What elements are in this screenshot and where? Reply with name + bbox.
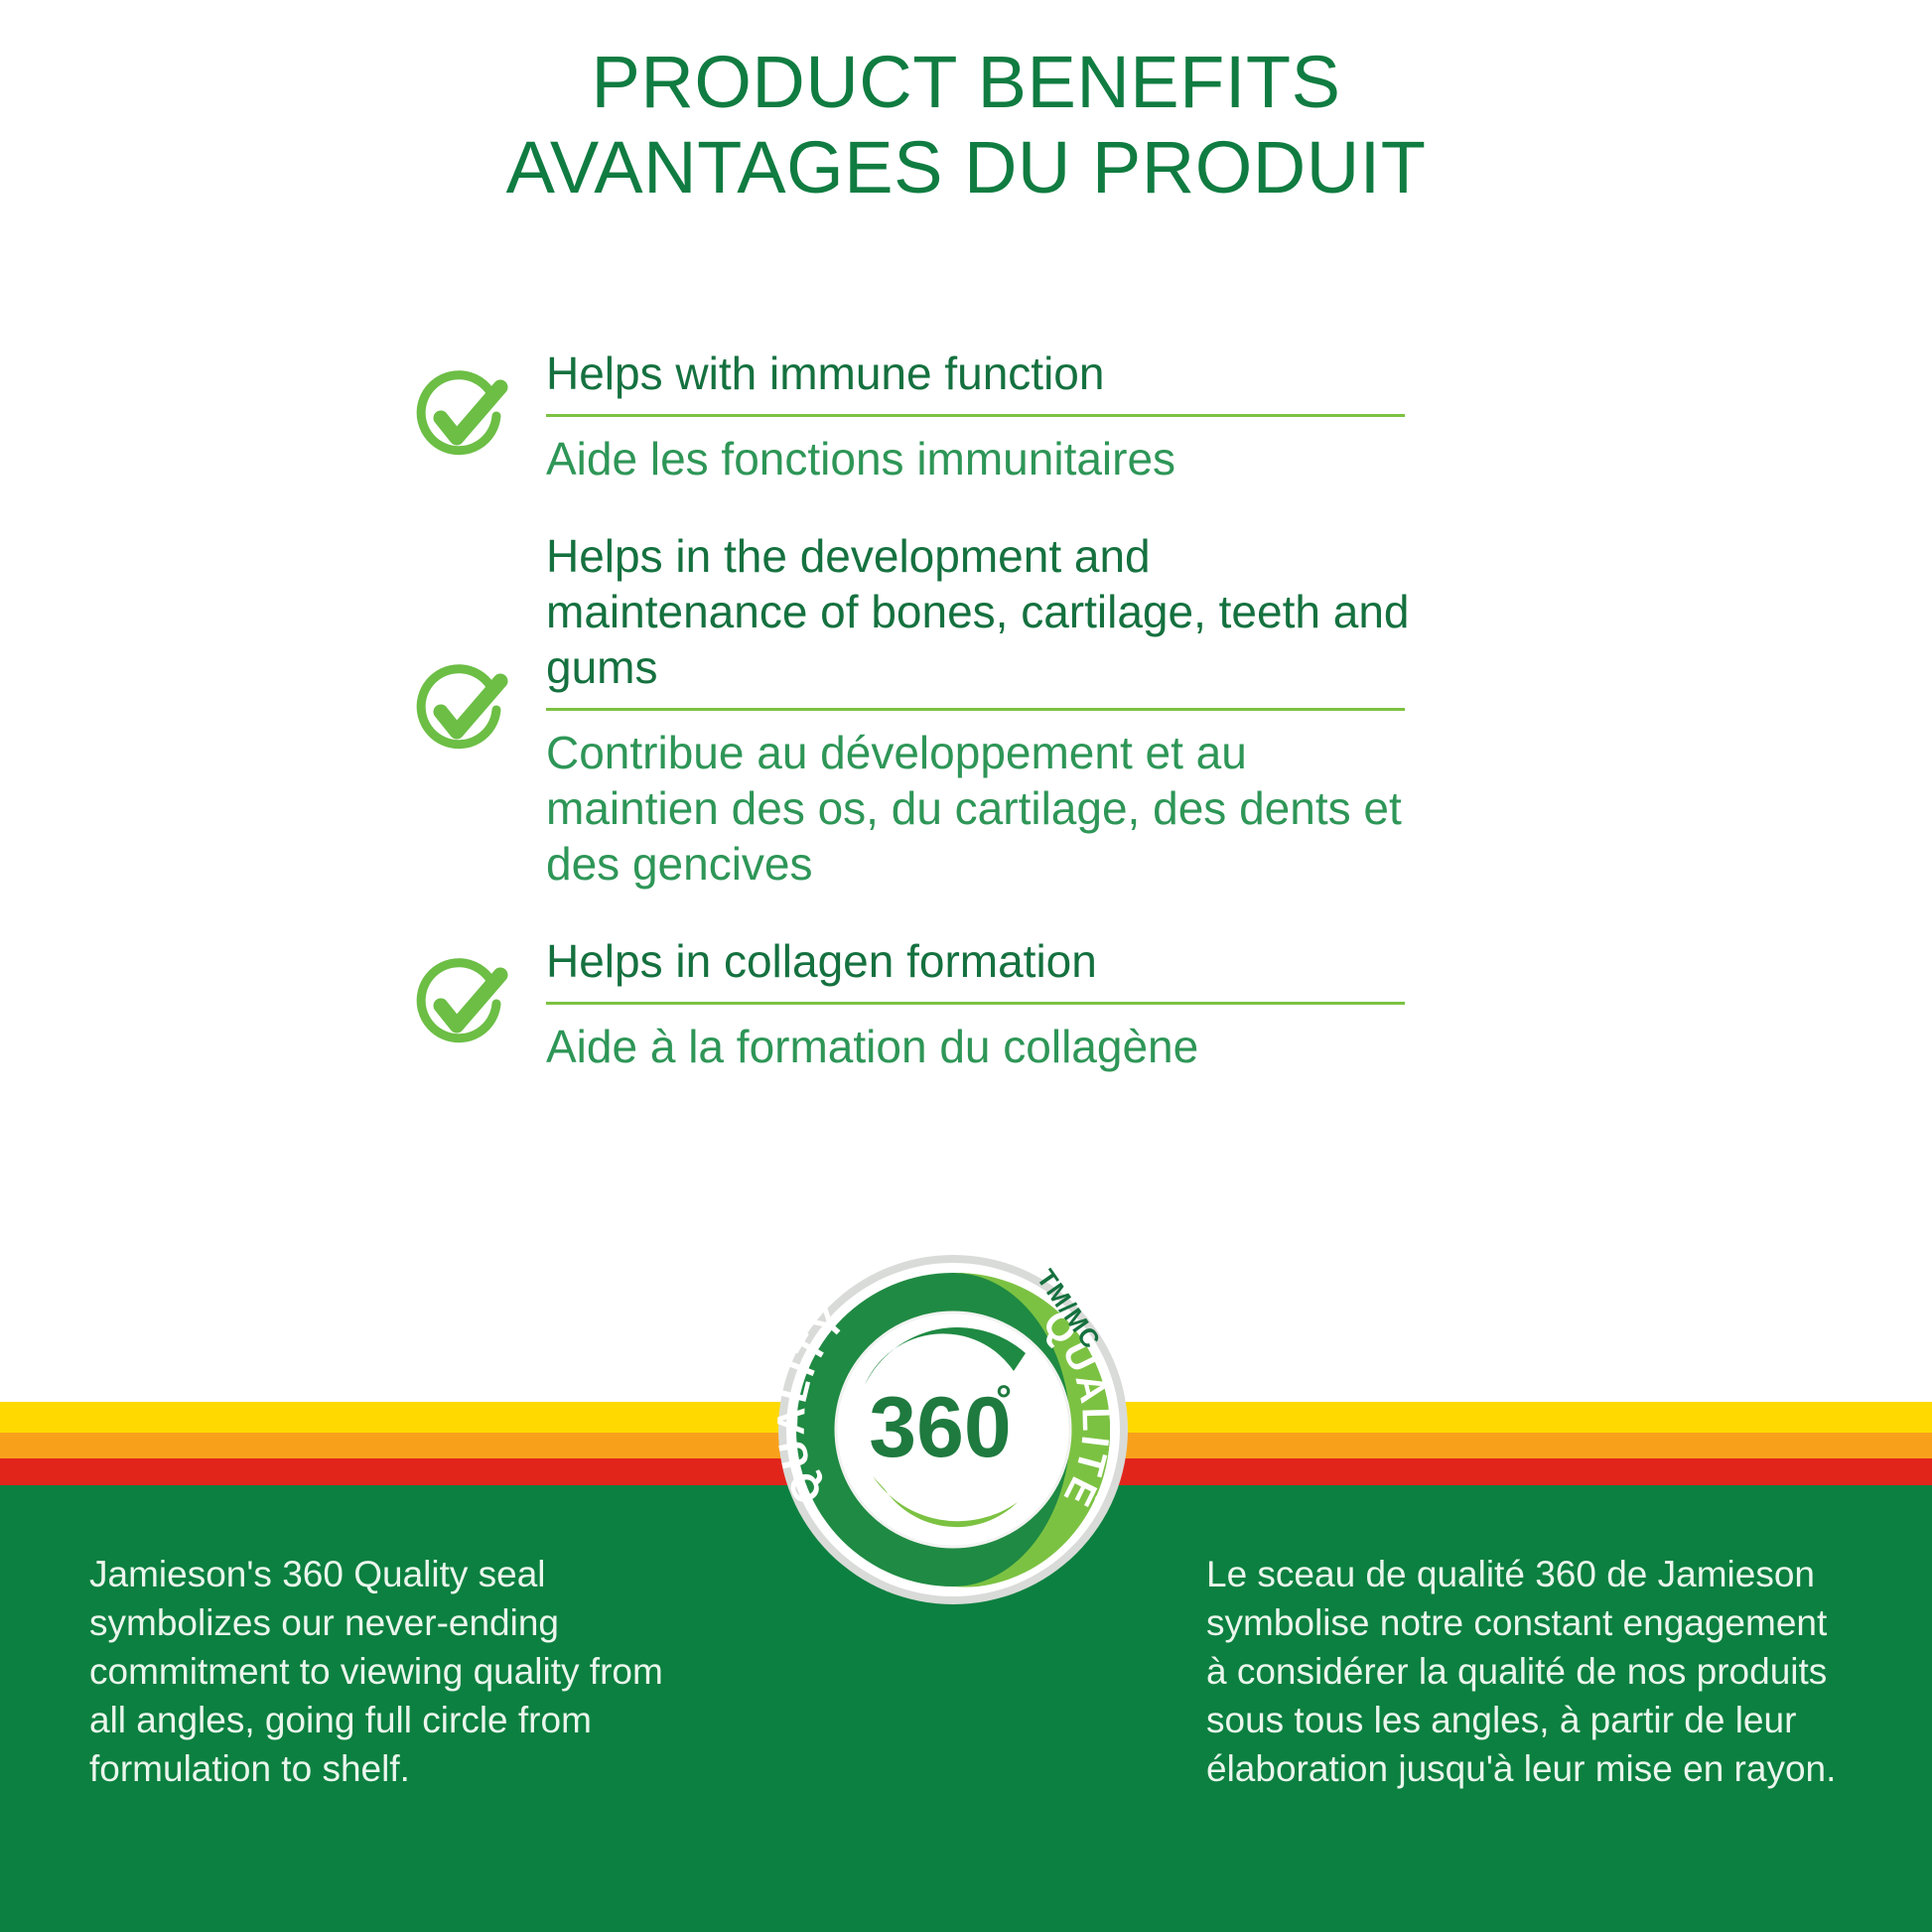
benefit-item: Helps in collagen formation Aide à la fo… — [0, 933, 1932, 1074]
360-quality-seal: QUALITY QUALITÉ 360 ° TM/MC — [769, 1246, 1137, 1613]
benefit-text-english: Helps in the development and maintenance… — [546, 528, 1420, 703]
benefit-text-group: Helps with immune function Aide les fonc… — [546, 345, 1420, 486]
product-benefits-infographic: PRODUCT BENEFITS AVANTAGES DU PRODUIT He… — [0, 0, 1932, 1932]
benefits-list: Helps with immune function Aide les fonc… — [0, 345, 1932, 1116]
benefit-text-english: Helps in collagen formation — [546, 933, 1420, 997]
footer-text-french: Le sceau de qualité 360 de Jamieson symb… — [1206, 1550, 1852, 1793]
benefit-item: Helps in the development and maintenance… — [0, 528, 1932, 892]
check-circle-icon — [367, 950, 546, 1057]
seal-degree: ° — [996, 1378, 1012, 1422]
benefit-divider — [546, 414, 1405, 417]
benefit-text-group: Helps in collagen formation Aide à la fo… — [546, 933, 1420, 1074]
benefit-text-english: Helps with immune function — [546, 345, 1420, 409]
benefit-text-french: Aide à la formation du collagène — [546, 1015, 1420, 1074]
footer-text-english: Jamieson's 360 Quality seal symbolizes o… — [89, 1550, 705, 1793]
benefit-divider — [546, 708, 1405, 711]
benefit-text-french: Aide les fonctions immunitaires — [546, 427, 1420, 486]
title-line-french: AVANTAGES DU PRODUIT — [0, 125, 1932, 210]
title-line-english: PRODUCT BENEFITS — [0, 40, 1932, 125]
page-title: PRODUCT BENEFITS AVANTAGES DU PRODUIT — [0, 40, 1932, 210]
benefit-text-french: Contribue au développement et au maintie… — [546, 721, 1420, 892]
benefit-item: Helps with immune function Aide les fonc… — [0, 345, 1932, 486]
benefit-divider — [546, 1002, 1405, 1005]
check-circle-icon — [367, 656, 546, 763]
check-circle-icon — [367, 362, 546, 470]
seal-number: 360 — [869, 1380, 1012, 1475]
benefit-text-group: Helps in the development and maintenance… — [546, 528, 1420, 892]
